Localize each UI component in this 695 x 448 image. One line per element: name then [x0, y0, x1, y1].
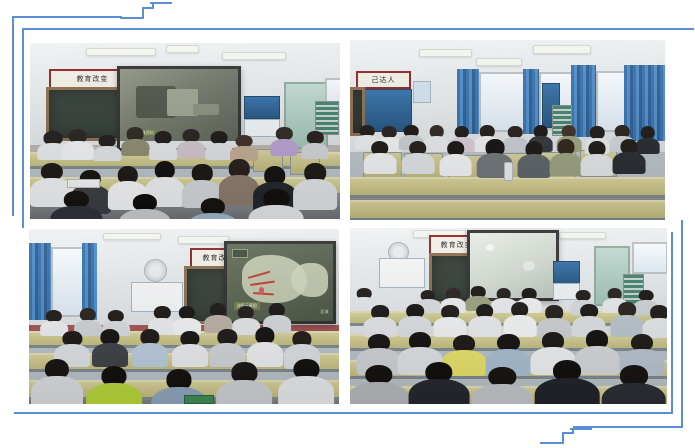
bracket-outer-right-vline [681, 220, 683, 428]
bracket-inner-left-vline [22, 28, 24, 228]
s-flourish-top-left [120, 2, 160, 20]
photo-top-left: 教育改变 历史影像资料 [30, 43, 340, 219]
photo-bottom-right: 教育改变 [350, 228, 667, 404]
photo-top-right: 己达人 [350, 40, 665, 220]
bracket-outer-top-hline [12, 16, 122, 18]
s-flourish-bottom-right [540, 428, 582, 446]
bracket-outer-left-vline [12, 16, 14, 216]
collage-canvas: 教育改变 历史影像资料 [0, 0, 695, 448]
photo-bottom-left: 教育改变 战役示意图 区域 [29, 229, 339, 404]
bracket-inner-bottom-hline [14, 412, 673, 414]
bracket-inner-top-hline [22, 28, 694, 30]
bracket-inner-right-vline [671, 232, 673, 414]
